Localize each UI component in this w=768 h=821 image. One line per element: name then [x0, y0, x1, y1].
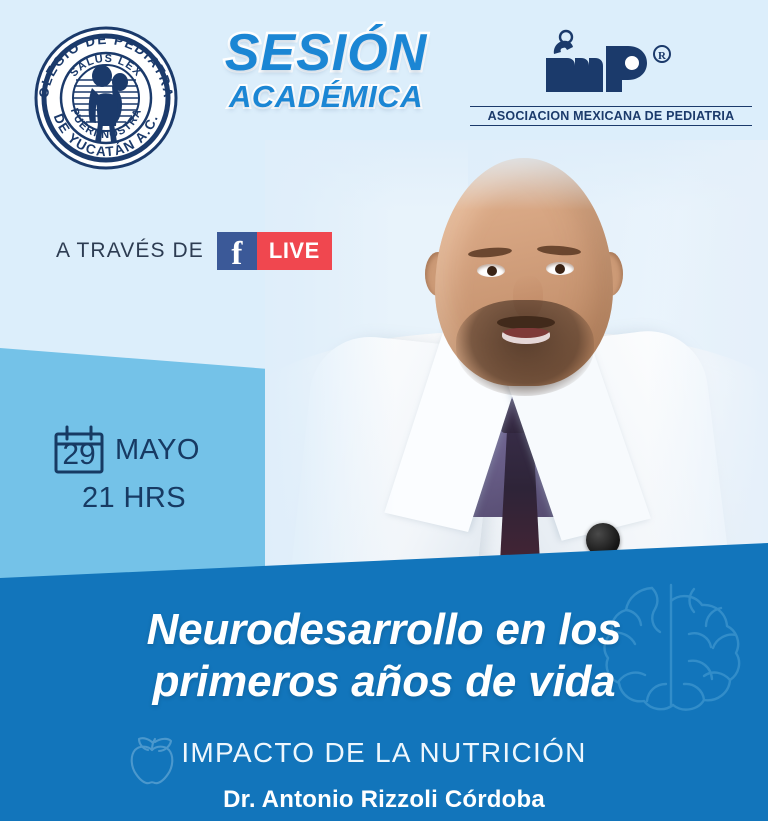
- event-title-line2: ACADÉMICA: [196, 81, 456, 114]
- photo-fade-right: [648, 140, 768, 585]
- photo-fade-left: [265, 140, 395, 585]
- pupil-right: [555, 264, 565, 274]
- event-poster: COLEGIO DE PEDIATRAS DE YUCATÁN A.C. SAL…: [0, 0, 768, 821]
- lecture-title-line1: Neurodesarrollo en los: [0, 604, 768, 656]
- facebook-icon[interactable]: f: [217, 232, 257, 270]
- lecture-title-line2: primeros años de vida: [0, 656, 768, 708]
- calendar-icon: 29: [52, 424, 106, 476]
- speaker-photo: [265, 140, 768, 585]
- facebook-live-badge[interactable]: f LIVE: [217, 232, 332, 270]
- mouth: [502, 328, 550, 344]
- event-title: SESIÓN ACADÉMICA: [196, 28, 456, 114]
- schedule-month: MAYO: [115, 434, 200, 467]
- live-label: LIVE: [257, 232, 332, 270]
- amp-monogram-icon: R: [536, 28, 686, 100]
- lecture-subtitle: IMPACTO DE LA NUTRICIÓN: [0, 737, 768, 769]
- pupil-left: [487, 266, 497, 276]
- schedule-block: 29 MAYO 21 HRS: [52, 424, 200, 515]
- broadcast-row: A TRAVÉS DE f LIVE: [56, 232, 332, 270]
- facebook-f-glyph: f: [231, 238, 242, 271]
- svg-text:R: R: [658, 50, 667, 62]
- beard: [456, 300, 594, 396]
- broadcast-label: A TRAVÉS DE: [56, 239, 204, 263]
- speaker-name: Dr. Antonio Rizzoli Córdoba: [0, 786, 768, 814]
- schedule-time: 21 HRS: [52, 482, 200, 515]
- association-name: ASOCIACION MEXICANA DE PEDIATRIA: [470, 106, 752, 126]
- asociacion-mexicana-pediatria-logo: R ASOCIACION MEXICANA DE PEDIATRIA: [470, 28, 752, 136]
- event-title-line1: SESIÓN: [196, 28, 456, 79]
- colegio-pediatras-yucatan-seal: COLEGIO DE PEDIATRAS DE YUCATÁN A.C. SAL…: [26, 22, 186, 174]
- lecture-title: Neurodesarrollo en los primeros años de …: [0, 604, 768, 708]
- calendar-day: 29: [52, 424, 106, 476]
